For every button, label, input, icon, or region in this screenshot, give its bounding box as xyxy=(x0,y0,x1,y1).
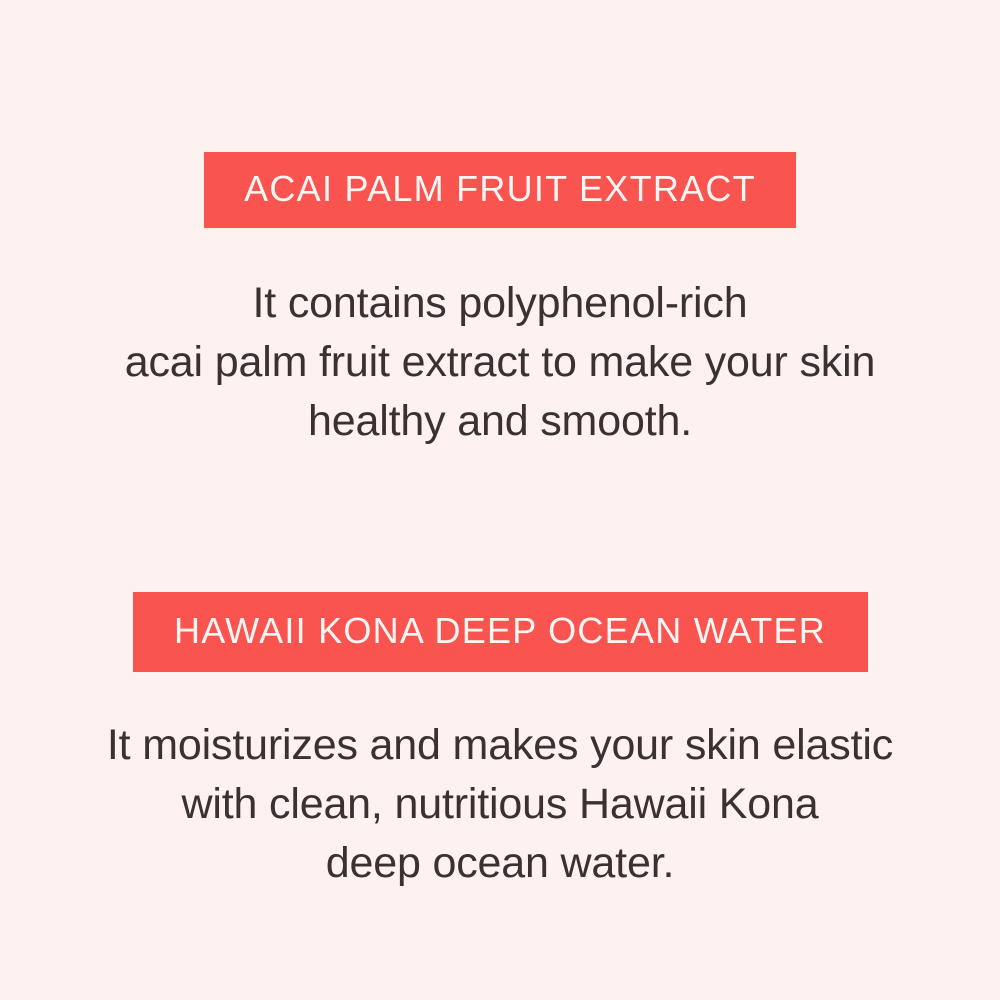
section-hawaii-kona-deep-ocean-water: HAWAII KONA DEEP OCEAN WATER It moisturi… xyxy=(0,592,1000,936)
banner-label-kona: HAWAII KONA DEEP OCEAN WATER xyxy=(174,613,826,649)
section-acai-palm-fruit-extract: ACAI PALM FRUIT EXTRACT It contains poly… xyxy=(0,152,1000,494)
banner-label-acai: ACAI PALM FRUIT EXTRACT xyxy=(244,171,756,207)
banner-hawaii-kona-deep-ocean-water: HAWAII KONA DEEP OCEAN WATER xyxy=(133,592,868,672)
body-copy-kona: It moisturizes and makes your skin elast… xyxy=(107,716,893,893)
body-copy-acai: It contains polyphenol-rich acai palm fr… xyxy=(125,274,876,451)
banner-acai-palm-fruit-extract: ACAI PALM FRUIT EXTRACT xyxy=(204,152,796,228)
ingredient-benefits-panel: ACAI PALM FRUIT EXTRACT It contains poly… xyxy=(0,0,1000,1000)
